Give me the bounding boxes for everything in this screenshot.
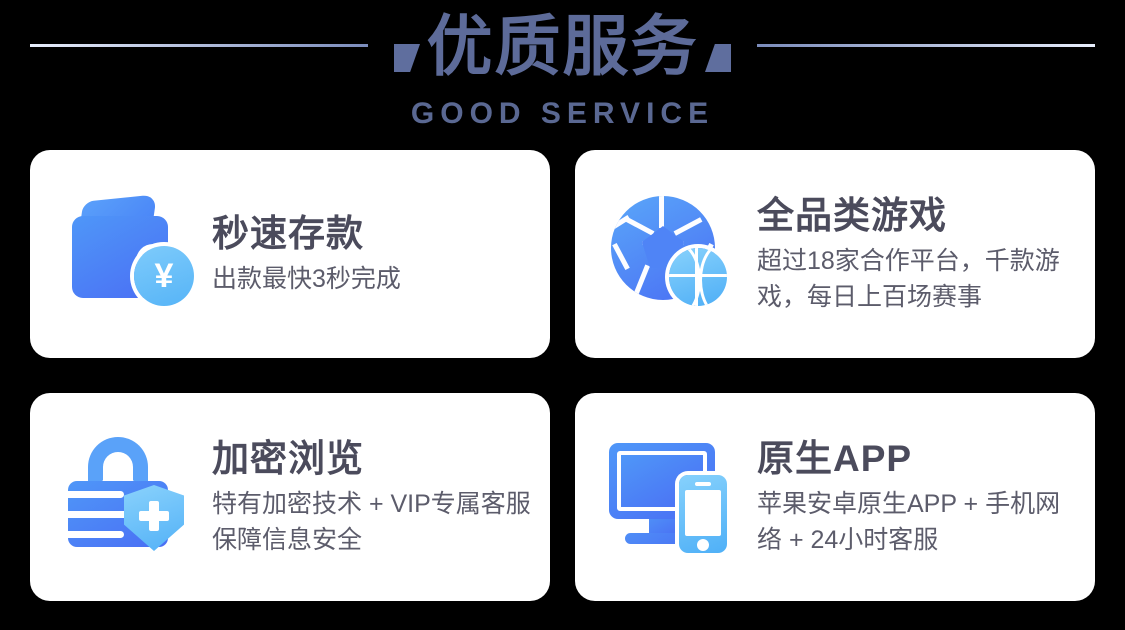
phone-screen (685, 490, 721, 536)
ball-seam (612, 243, 630, 270)
feature-card-grid: ¥ 秒速存款 出款最快3秒完成 (30, 150, 1095, 601)
feature-card-native-app[interactable]: 原生APP 苹果安卓原生APP + 手机网络 + 24小时客服 (575, 393, 1095, 601)
monitor-icon (603, 427, 753, 567)
card-text-block: 加密浏览 特有加密技术 + VIP专属客服保障信息安全 (208, 436, 550, 558)
smartphone-icon (679, 475, 727, 553)
feature-card-instant-deposit[interactable]: ¥ 秒速存款 出款最快3秒完成 (30, 150, 550, 358)
phone-speaker (695, 482, 711, 486)
card-text-block: 全品类游戏 超过18家合作平台，千款游戏，每日上百场赛事 (753, 193, 1095, 315)
yuan-symbol: ¥ (155, 259, 174, 293)
yuan-coin-icon: ¥ (134, 246, 194, 306)
page-title: 优质服务 (0, 8, 1125, 84)
ball-seam (631, 264, 650, 300)
card-description: 超过18家合作平台，千款游戏，每日上百场赛事 (757, 243, 1081, 315)
lock-stripe (68, 531, 124, 538)
feature-card-all-category-games[interactable]: 全品类游戏 超过18家合作平台，千款游戏，每日上百场赛事 (575, 150, 1095, 358)
card-description: 苹果安卓原生APP + 手机网络 + 24小时客服 (757, 486, 1081, 558)
basketball-curve (669, 248, 701, 306)
phone-home-button (697, 539, 709, 551)
card-title: 原生APP (757, 436, 1081, 482)
basketball-icon (669, 248, 727, 306)
card-text-block: 原生APP 苹果安卓原生APP + 手机网络 + 24小时客服 (753, 436, 1095, 558)
lock-stripe (68, 491, 124, 498)
page-header: 优质服务 GOOD SERVICE (0, 0, 1125, 142)
wallet-icon: ¥ (58, 184, 208, 324)
basketball-curve (699, 248, 727, 306)
feature-card-encrypted-browsing[interactable]: 加密浏览 特有加密技术 + VIP专属客服保障信息安全 (30, 393, 550, 601)
ball-seam (626, 217, 655, 235)
ball-seam (674, 217, 703, 235)
soccer-ball-icon (603, 184, 753, 324)
plus-icon (139, 501, 169, 531)
card-title: 秒速存款 (212, 211, 536, 257)
ball-seam (659, 196, 664, 228)
card-description: 出款最快3秒完成 (212, 261, 536, 297)
card-description: 特有加密技术 + VIP专属客服保障信息安全 (212, 486, 536, 558)
card-text-block: 秒速存款 出款最快3秒完成 (208, 211, 550, 297)
card-title: 全品类游戏 (757, 193, 1081, 239)
padlock-icon (58, 427, 208, 567)
card-title: 加密浏览 (212, 436, 536, 482)
page-subtitle: GOOD SERVICE (0, 97, 1125, 131)
